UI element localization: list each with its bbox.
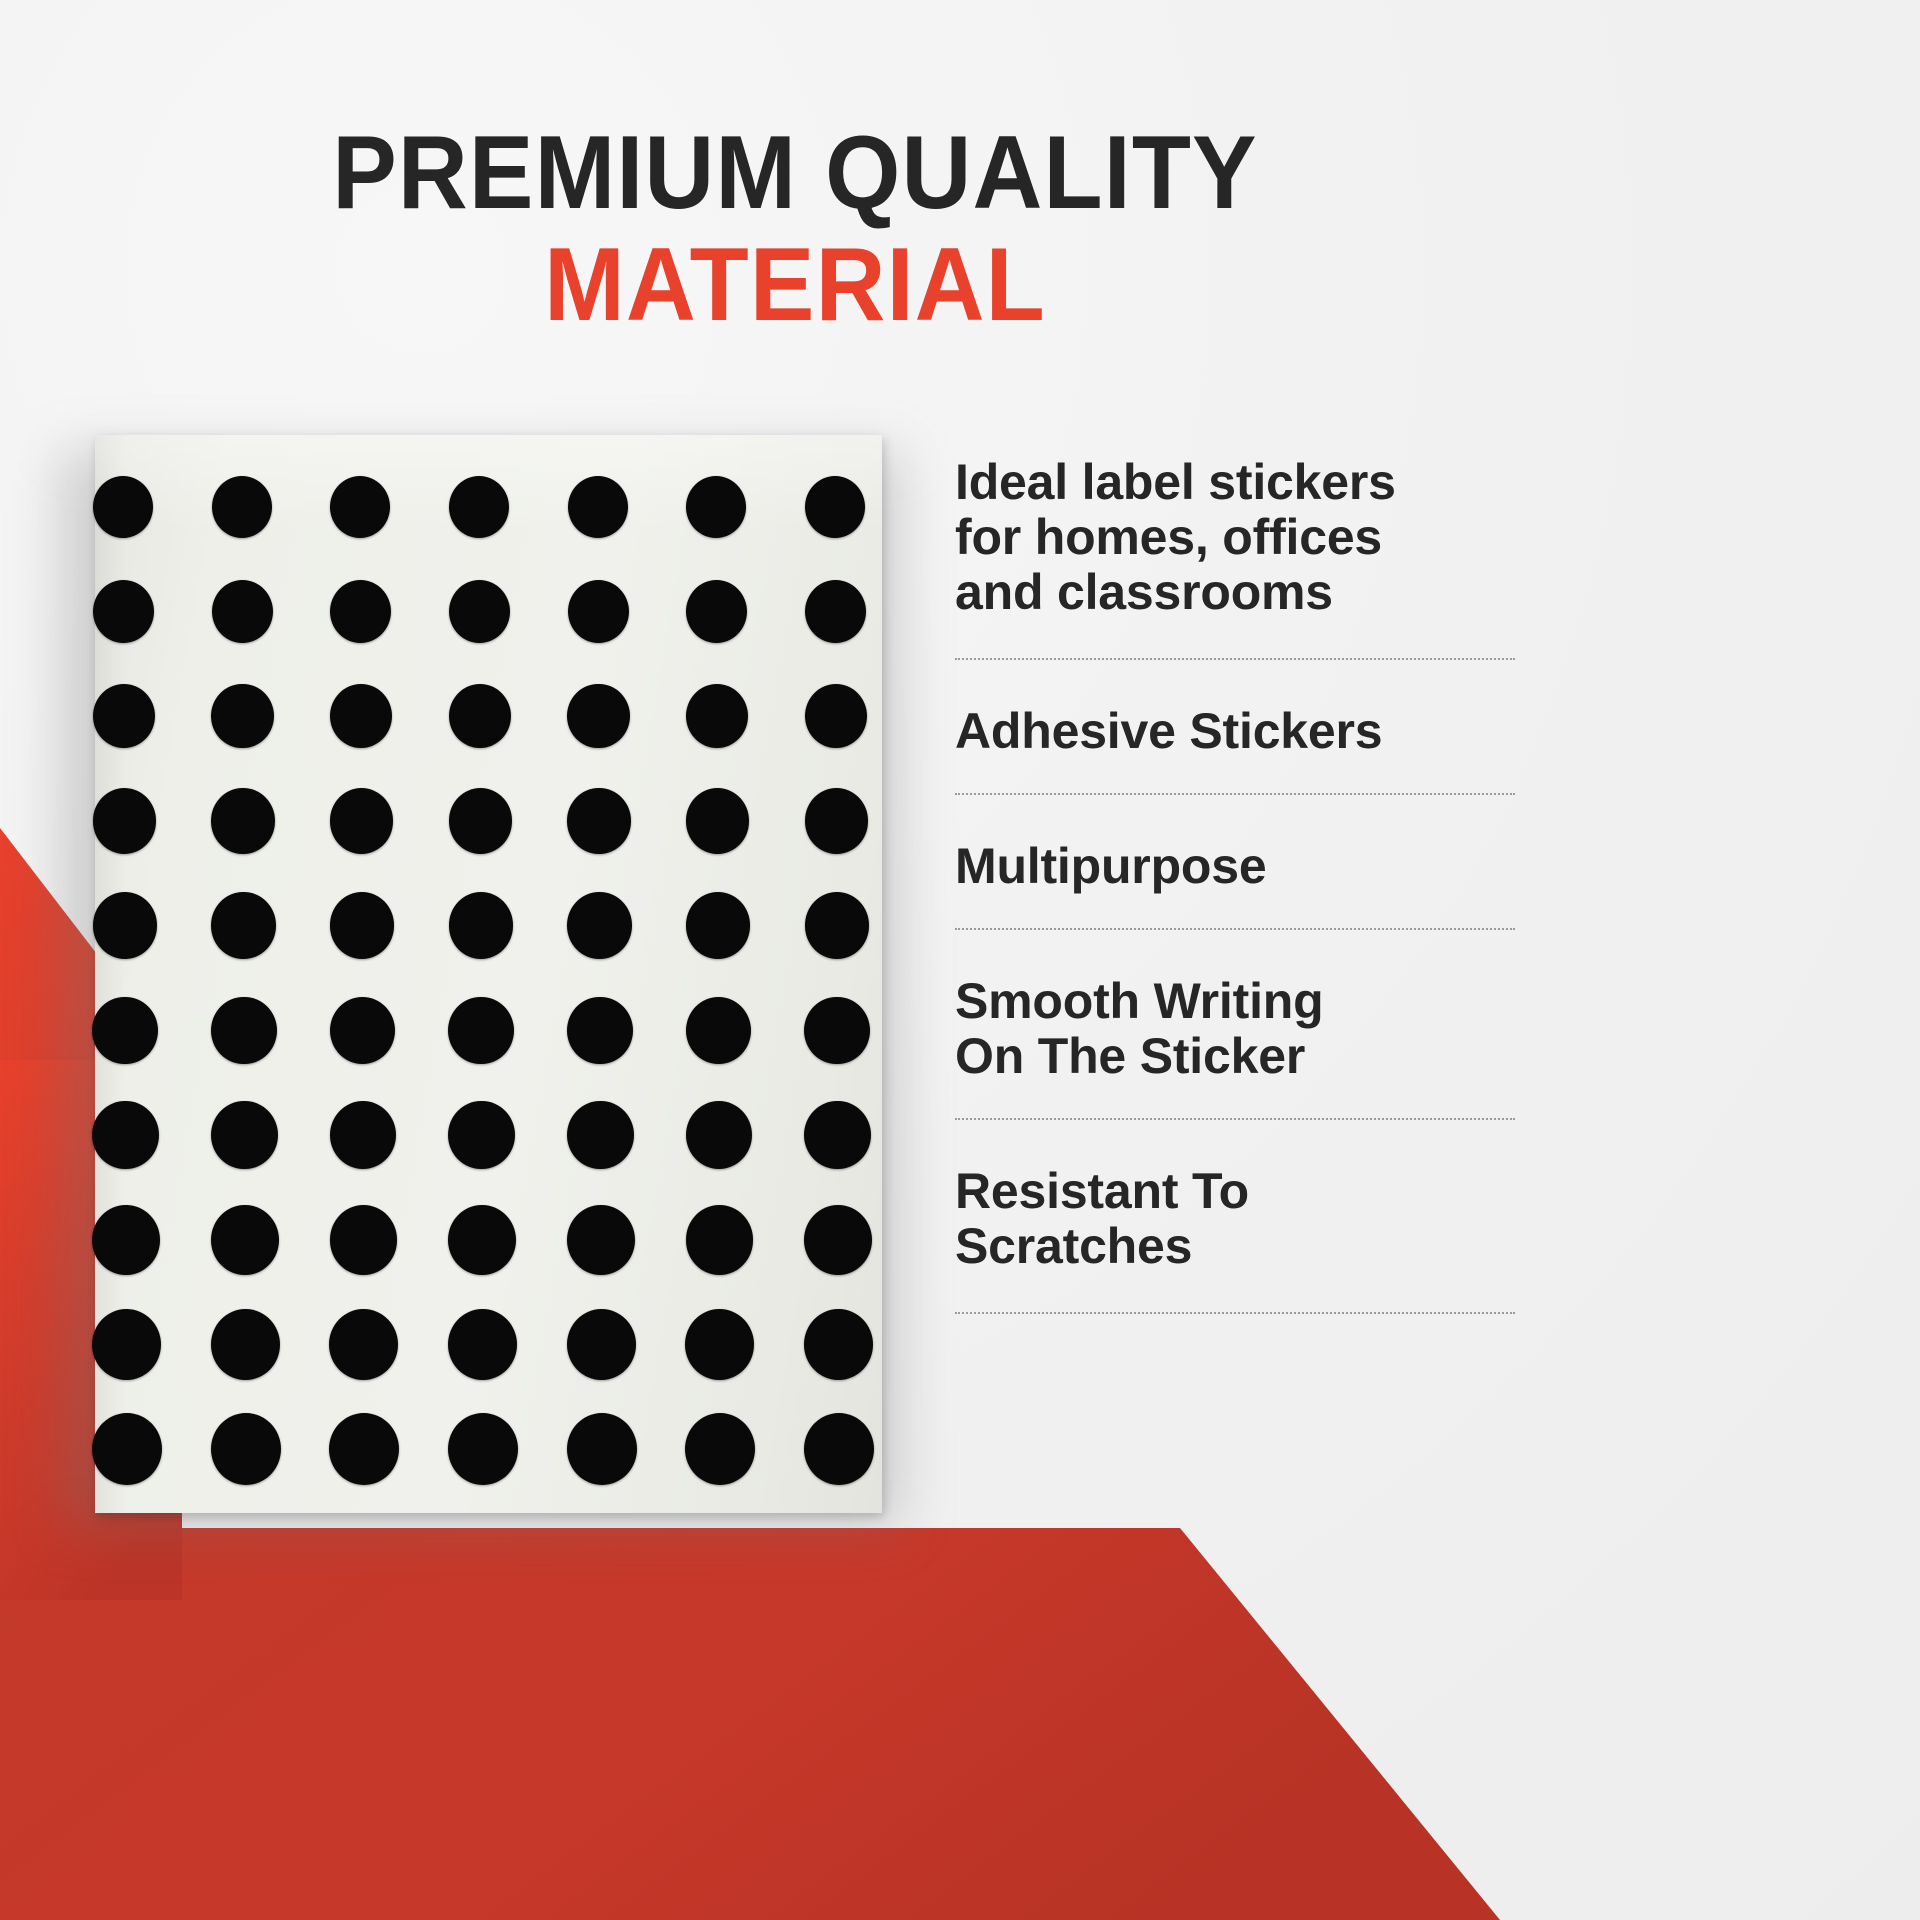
- sticker-dot: [93, 892, 157, 958]
- sticker-dot: [449, 788, 512, 853]
- headline-line-2: MATERIAL: [56, 230, 1535, 340]
- sticker-dot: [567, 892, 631, 958]
- list-item: Smooth Writing On The Sticker: [955, 974, 1515, 1120]
- sticker-dot: [92, 997, 158, 1065]
- sticker-dot: [92, 1101, 159, 1170]
- sticker-sheet-photo: [95, 435, 882, 1513]
- sticker-dot: [448, 1101, 515, 1170]
- sticker-dot: [804, 1101, 871, 1170]
- feature-divider: [955, 928, 1515, 930]
- sticker-dot: [686, 684, 748, 748]
- infographic-canvas: PREMIUM QUALITY MATERIAL Ideal label sti…: [0, 0, 1920, 1920]
- sticker-dot: [805, 580, 866, 643]
- sticker-dot: [93, 476, 153, 538]
- sticker-dot: [211, 788, 274, 853]
- feature-text: Ideal label stickers for homes, offices …: [955, 455, 1515, 658]
- sticker-dot: [330, 1101, 397, 1170]
- sticker-dot: [686, 892, 750, 958]
- headline-line-1: PREMIUM QUALITY: [56, 118, 1535, 228]
- feature-divider: [955, 1118, 1515, 1120]
- sticker-dot: [211, 1101, 278, 1170]
- sticker-dot: [330, 892, 394, 958]
- sticker-dot: [805, 892, 869, 958]
- list-item: Adhesive Stickers: [955, 704, 1515, 795]
- sticker-dot: [92, 1205, 160, 1275]
- sticker-dot: [212, 476, 272, 538]
- sticker-dot: [804, 1205, 872, 1275]
- sticker-dot: [804, 997, 870, 1065]
- sticker-dot: [804, 1309, 873, 1380]
- sticker-dot: [329, 1309, 398, 1380]
- sticker-dot: [92, 1413, 162, 1485]
- sticker-dot: [330, 476, 390, 538]
- sticker-dot: [330, 580, 391, 643]
- sticker-dot: [329, 1413, 399, 1485]
- sticker-dot: [448, 1309, 517, 1380]
- sticker-dot: [449, 684, 511, 748]
- sticker-dot: [330, 997, 396, 1065]
- sticker-dot: [805, 684, 867, 748]
- sticker-dot: [567, 1205, 635, 1275]
- sticker-dot: [685, 1309, 754, 1380]
- feature-list: Ideal label stickers for homes, offices …: [955, 455, 1515, 1314]
- sticker-dot: [330, 1205, 398, 1275]
- sticker-dot: [567, 684, 629, 748]
- sticker-dot: [568, 580, 629, 643]
- sticker-dot: [805, 788, 868, 853]
- sticker-dot: [686, 788, 749, 853]
- sticker-dot: [211, 997, 277, 1065]
- sticker-dot: [93, 684, 155, 748]
- feature-text: Multipurpose: [955, 839, 1515, 928]
- sticker-dot: [330, 684, 392, 748]
- feature-text: Smooth Writing On The Sticker: [955, 974, 1515, 1118]
- page-title: PREMIUM QUALITY MATERIAL: [0, 118, 1590, 340]
- feature-text: Adhesive Stickers: [955, 704, 1515, 793]
- sticker-dot: [330, 788, 393, 853]
- feature-divider: [955, 793, 1515, 795]
- sticker-dot: [211, 1205, 279, 1275]
- sticker-dot: [567, 1413, 637, 1485]
- sticker-dot: [93, 580, 154, 643]
- sticker-dot-grid: [95, 435, 882, 1513]
- sticker-dot: [211, 684, 273, 748]
- feature-text: Resistant To Scratches: [955, 1164, 1515, 1312]
- sticker-dot: [211, 892, 275, 958]
- list-item: Multipurpose: [955, 839, 1515, 930]
- sticker-dot: [448, 997, 514, 1065]
- sticker-dot: [568, 476, 628, 538]
- sticker-dot: [92, 1309, 161, 1380]
- sticker-dot: [686, 580, 747, 643]
- sticker-dot: [686, 1205, 754, 1275]
- sticker-dot: [685, 1413, 755, 1485]
- sticker-dot: [567, 1309, 636, 1380]
- sticker-dot: [567, 788, 630, 853]
- feature-divider: [955, 1312, 1515, 1314]
- sticker-dot: [448, 1205, 516, 1275]
- sticker-dot: [567, 997, 633, 1065]
- feature-divider: [955, 658, 1515, 660]
- sticker-dot: [686, 1101, 753, 1170]
- sticker-dot: [93, 788, 156, 853]
- sticker-dot: [805, 476, 865, 538]
- sticker-dot: [212, 580, 273, 643]
- sticker-dot: [449, 476, 509, 538]
- sticker-dot: [448, 1413, 518, 1485]
- sticker-dot: [804, 1413, 874, 1485]
- sticker-dot: [449, 580, 510, 643]
- sticker-dot: [211, 1309, 280, 1380]
- list-item: Ideal label stickers for homes, offices …: [955, 455, 1515, 660]
- sticker-dot: [686, 476, 746, 538]
- sticker-dot: [686, 997, 752, 1065]
- list-item: Resistant To Scratches: [955, 1164, 1515, 1314]
- sticker-dot: [567, 1101, 634, 1170]
- sticker-dot: [449, 892, 513, 958]
- sticker-dot: [211, 1413, 281, 1485]
